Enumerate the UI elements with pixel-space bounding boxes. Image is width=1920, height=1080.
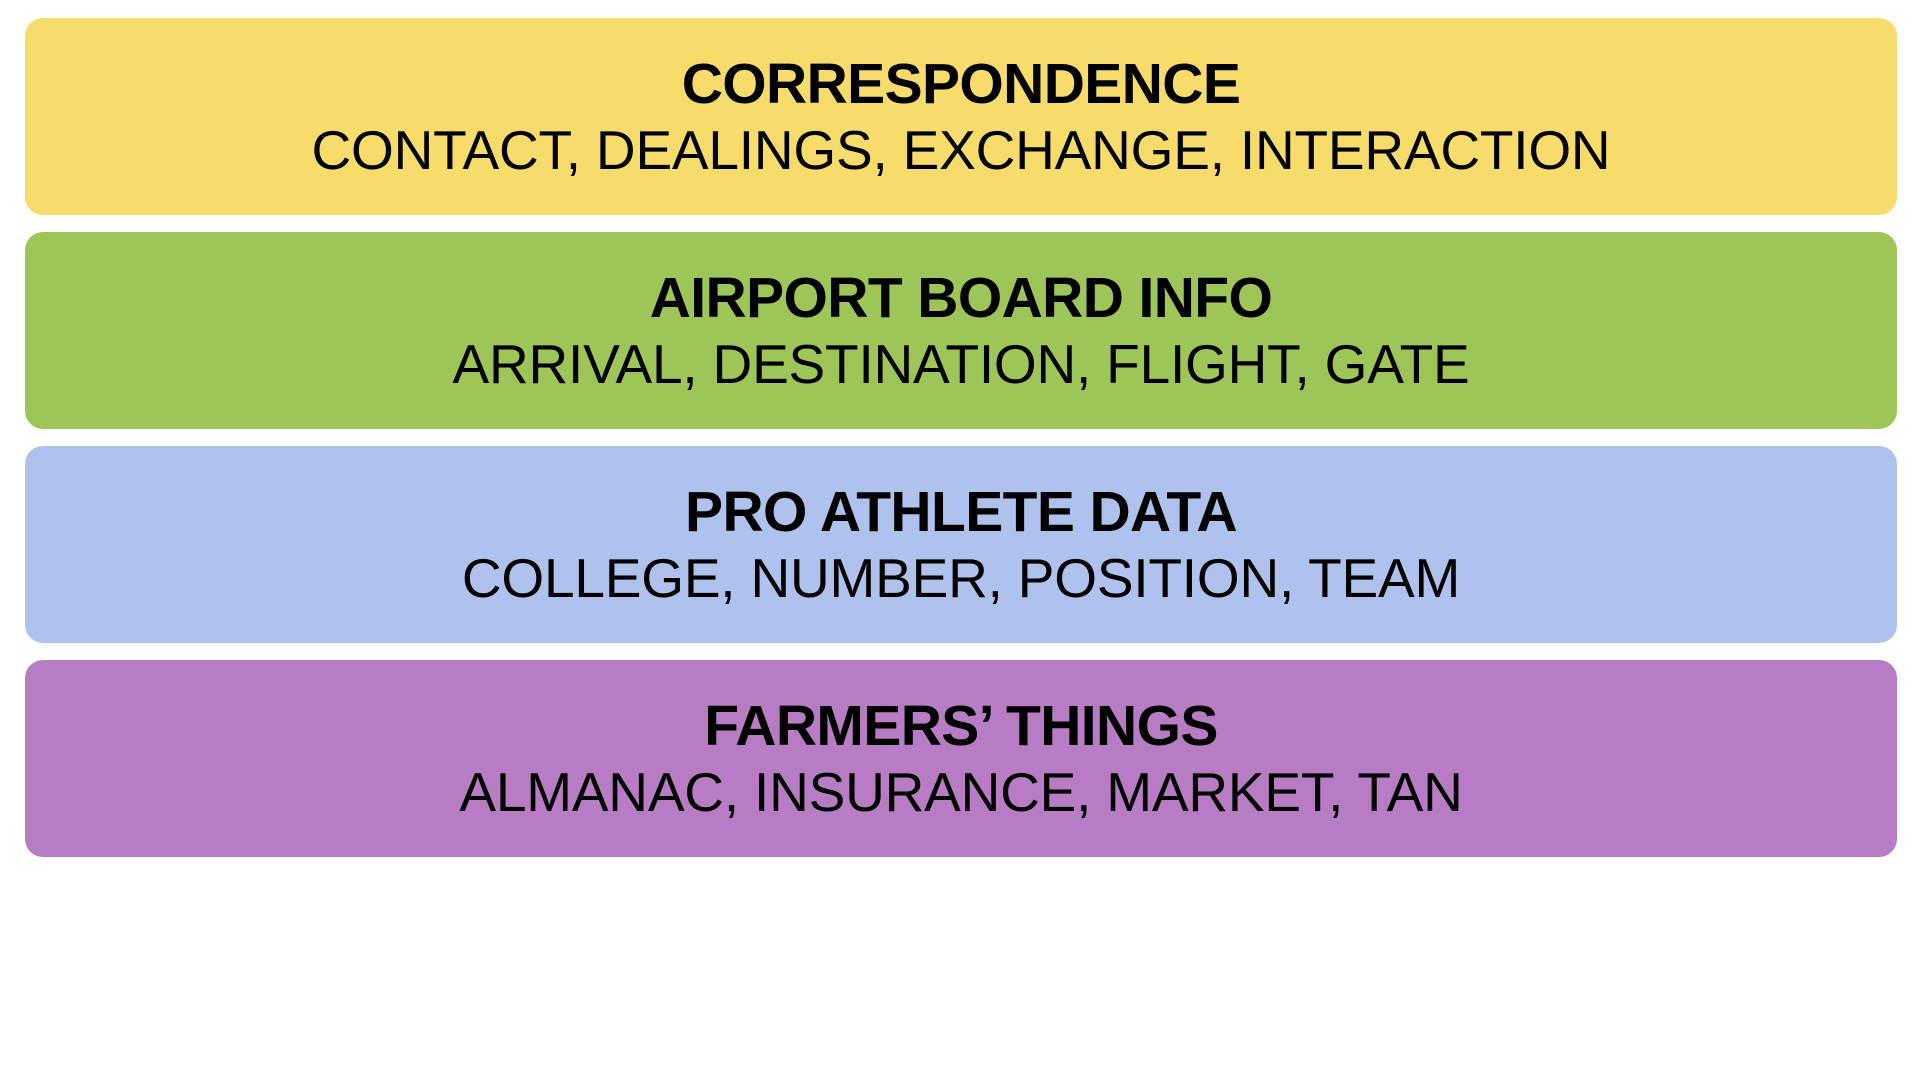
- category-members: CONTACT, DEALINGS, EXCHANGE, INTERACTION: [288, 122, 1635, 178]
- category-title: CORRESPONDENCE: [658, 55, 1265, 113]
- category-band-blue[interactable]: PRO ATHLETE DATA COLLEGE, NUMBER, POSITI…: [25, 446, 1897, 643]
- category-title: FARMERS’ THINGS: [680, 697, 1242, 755]
- connections-solution-board: CORRESPONDENCE CONTACT, DEALINGS, EXCHAN…: [0, 0, 1920, 1080]
- category-members: ARRIVAL, DESTINATION, FLIGHT, GATE: [429, 336, 1494, 392]
- category-band-yellow[interactable]: CORRESPONDENCE CONTACT, DEALINGS, EXCHAN…: [25, 18, 1897, 215]
- category-members: ALMANAC, INSURANCE, MARKET, TAN: [435, 764, 1486, 820]
- category-band-green[interactable]: AIRPORT BOARD INFO ARRIVAL, DESTINATION,…: [25, 232, 1897, 429]
- category-title: AIRPORT BOARD INFO: [626, 269, 1297, 327]
- category-members: COLLEGE, NUMBER, POSITION, TEAM: [438, 550, 1484, 606]
- category-band-purple[interactable]: FARMERS’ THINGS ALMANAC, INSURANCE, MARK…: [25, 660, 1897, 857]
- category-title: PRO ATHLETE DATA: [661, 483, 1261, 541]
